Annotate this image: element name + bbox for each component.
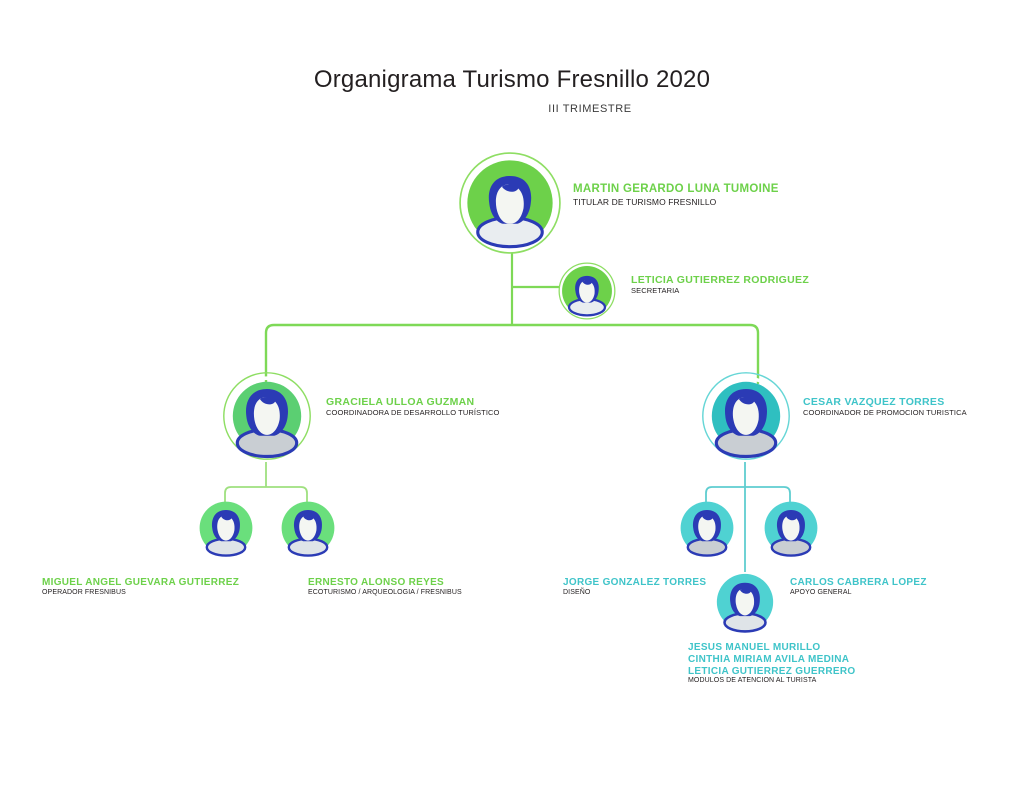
node-director[interactable]: [458, 151, 562, 255]
page-subtitle-row: III TRIMESTRE: [0, 103, 1024, 115]
node-ernesto-alonso[interactable]: [278, 498, 338, 558]
modulos-name-2: CINTHIA MIRIAM AVILA MEDINA: [688, 654, 855, 666]
avatar-carlos-cabrera: [761, 498, 821, 558]
label-ernesto-alonso: ERNESTO ALONSO REYES ECOTURISMO / ARQUEO…: [308, 577, 462, 597]
secretary-role: SECRETARIA: [631, 286, 809, 295]
label-director: MARTIN GERARDO LUNA TUMOINE TITULAR DE T…: [573, 183, 779, 207]
wire-main-bus: [266, 325, 758, 383]
connector-lines: [0, 0, 1024, 787]
label-coordinator-promocion: CESAR VAZQUEZ TORRES COORDINADOR DE PROM…: [803, 396, 967, 417]
miguel-guevara-name: MIGUEL ANGEL GUEVARA GUTIERREZ: [42, 577, 239, 589]
avatar-ernesto-alonso: [278, 498, 338, 558]
carlos-cabrera-name: CARLOS CABRERA LOPEZ: [790, 577, 927, 589]
avatar-director: [458, 151, 562, 255]
avatar-modulos-atencion: [713, 570, 777, 634]
avatar-jorge-gonzalez: [677, 498, 737, 558]
avatar-coordinator-promocion: [701, 371, 791, 461]
node-coordinator-promocion[interactable]: [701, 371, 791, 461]
carlos-cabrera-role: APOYO GENERAL: [790, 589, 927, 597]
coordinator-desarrollo-role: COORDINADORA DE DESARROLLO TURÍSTICO: [326, 408, 500, 417]
secretary-name: LETICIA GUTIERREZ RODRIGUEZ: [631, 274, 809, 286]
avatar-miguel-guevara: [196, 498, 256, 558]
director-role: TITULAR DE TURISMO FRESNILLO: [573, 197, 779, 207]
jorge-gonzalez-role: DISEÑO: [563, 589, 706, 597]
label-carlos-cabrera: CARLOS CABRERA LOPEZ APOYO GENERAL: [790, 577, 927, 597]
ernesto-alonso-name: ERNESTO ALONSO REYES: [308, 577, 462, 589]
node-carlos-cabrera[interactable]: [761, 498, 821, 558]
avatar-coordinator-desarrollo: [222, 371, 312, 461]
director-name: MARTIN GERARDO LUNA TUMOINE: [573, 183, 779, 197]
jorge-gonzalez-name: JORGE GONZALEZ TORRES: [563, 577, 706, 589]
coordinator-promocion-name: CESAR VAZQUEZ TORRES: [803, 396, 967, 408]
ernesto-alonso-role: ECOTURISMO / ARQUEOLOGIA / FRESNIBUS: [308, 589, 462, 597]
organigrama-canvas: Organigrama Turismo Fresnillo 2020 III T…: [0, 0, 1024, 787]
node-coordinator-desarrollo[interactable]: [222, 371, 312, 461]
coordinator-desarrollo-name: GRACIELA ULLOA GUZMAN: [326, 396, 500, 408]
page-title: Organigrama Turismo Fresnillo 2020: [0, 66, 1024, 94]
modulos-name-1: JESUS MANUEL MURILLO: [688, 642, 855, 654]
title-block: Organigrama Turismo Fresnillo 2020: [0, 66, 1024, 94]
label-jorge-gonzalez: JORGE GONZALEZ TORRES DISEÑO: [563, 577, 706, 597]
page-subtitle: III TRIMESTRE: [548, 103, 631, 115]
miguel-guevara-role: OPERADOR FRESNIBUS: [42, 589, 239, 597]
avatar-secretary: [558, 262, 616, 320]
coordinator-promocion-role: COORDINADOR DE PROMOCION TURISTICA: [803, 408, 967, 417]
node-miguel-guevara[interactable]: [196, 498, 256, 558]
modulos-role: MODULOS DE ATENCION AL TURISTA: [688, 677, 855, 685]
node-secretary[interactable]: [558, 262, 616, 320]
label-miguel-guevara: MIGUEL ANGEL GUEVARA GUTIERREZ OPERADOR …: [42, 577, 239, 597]
node-jorge-gonzalez[interactable]: [677, 498, 737, 558]
label-modulos-atencion: JESUS MANUEL MURILLO CINTHIA MIRIAM AVIL…: [688, 642, 855, 686]
label-secretary: LETICIA GUTIERREZ RODRIGUEZ SECRETARIA: [631, 274, 809, 295]
label-coordinator-desarrollo: GRACIELA ULLOA GUZMAN COORDINADORA DE DE…: [326, 396, 500, 417]
modulos-name-3: LETICIA GUTIERREZ GUERRERO: [688, 666, 855, 678]
node-modulos-atencion[interactable]: [713, 570, 777, 634]
